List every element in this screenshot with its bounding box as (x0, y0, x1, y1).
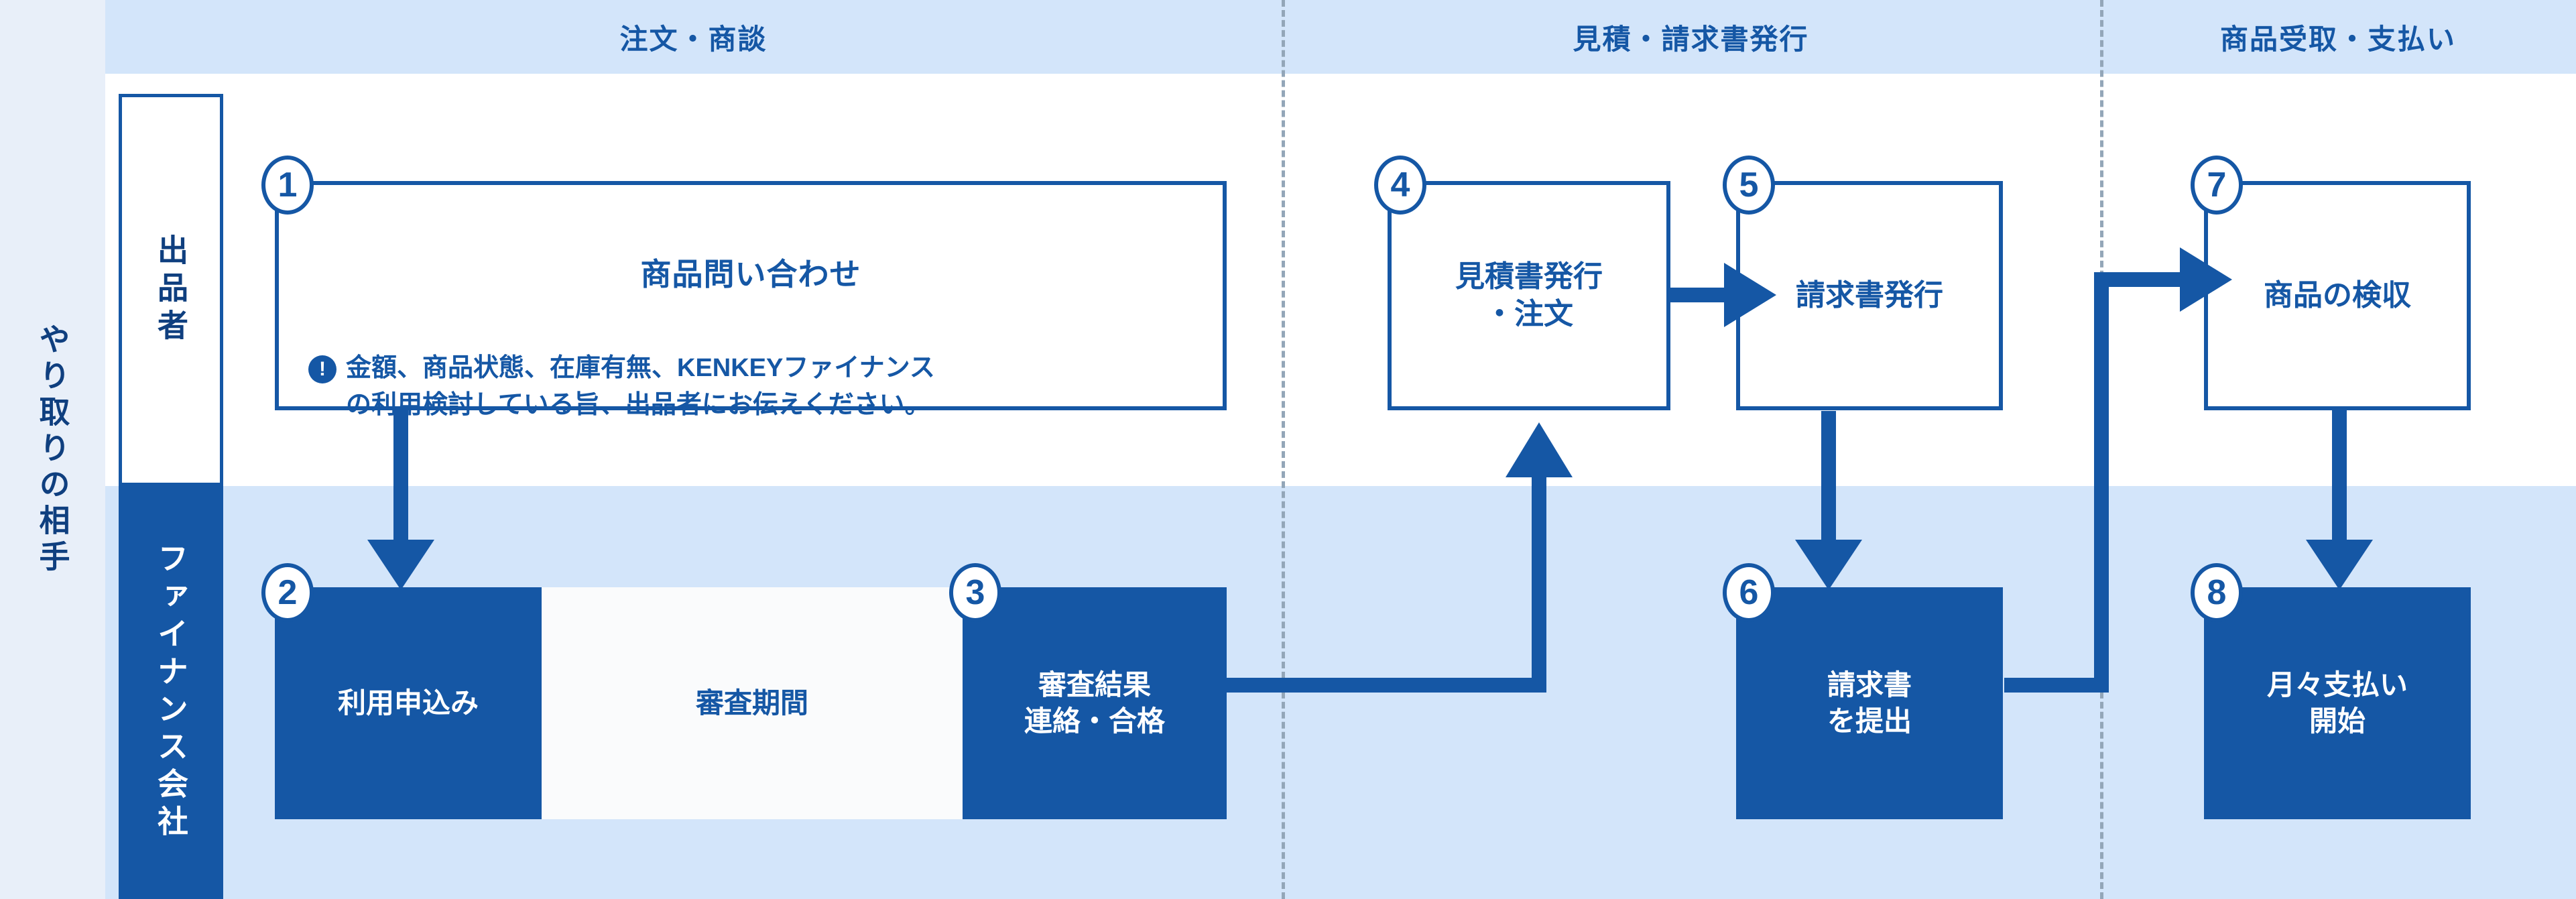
step-badge-5: 5 (1723, 156, 1775, 215)
step-1-note: ! 金額、商品状態、在庫有無、KENKEYファイナンス の利用検討している旨、出… (308, 350, 1193, 424)
phase-header-receive-pay: 商品受取・支払い (2100, 0, 2576, 74)
step-box-6[interactable]: 請求書 を提出 (1736, 587, 2003, 819)
review-period-box: 審査期間 (542, 587, 963, 819)
step-badge-3: 3 (949, 563, 1001, 622)
phase-header-quote-invoice: 見積・請求書発行 (1282, 0, 2100, 74)
step-badge-2: 2 (261, 563, 314, 622)
step-badge-7: 7 (2191, 156, 2243, 215)
step-badge-1: 1 (261, 156, 314, 215)
phase-header-order: 注文・商談 (105, 0, 1282, 74)
step-badge-8: 8 (2191, 563, 2243, 622)
step-box-1[interactable]: 商品問い合わせ ! 金額、商品状態、在庫有無、KENKEYファイナンス の利用検… (275, 181, 1227, 410)
phase-divider-2 (2100, 0, 2103, 899)
axis-label-counterparty: やり取りの相手 (0, 0, 105, 899)
step-box-2[interactable]: 利用申込み (275, 587, 542, 819)
lane-label-seller: 出品者 (119, 94, 223, 486)
step-badge-4: 4 (1374, 156, 1426, 215)
flow-diagram: やり取りの相手 注文・商談 見積・請求書発行 商品受取・支払い 出品者 ファイナ… (0, 0, 2576, 899)
step-box-8[interactable]: 月々支払い 開始 (2204, 587, 2471, 819)
step-box-4[interactable]: 見積書発行 ・注文 (1388, 181, 1670, 410)
phase-divider-1 (1282, 0, 1285, 899)
step-badge-6: 6 (1723, 563, 1775, 622)
step-box-5[interactable]: 請求書発行 (1736, 181, 2003, 410)
exclamation-icon: ! (308, 355, 336, 383)
step-box-7[interactable]: 商品の検収 (2204, 181, 2471, 410)
step-1-title: 商品問い合わせ (308, 255, 1193, 294)
lane-label-finance-company: ファイナンス会社 (119, 486, 223, 899)
step-box-3[interactable]: 審査結果 連絡・合格 (963, 587, 1227, 819)
step-1-note-text: 金額、商品状態、在庫有無、KENKEYファイナンス の利用検討している旨、出品者… (346, 350, 935, 424)
